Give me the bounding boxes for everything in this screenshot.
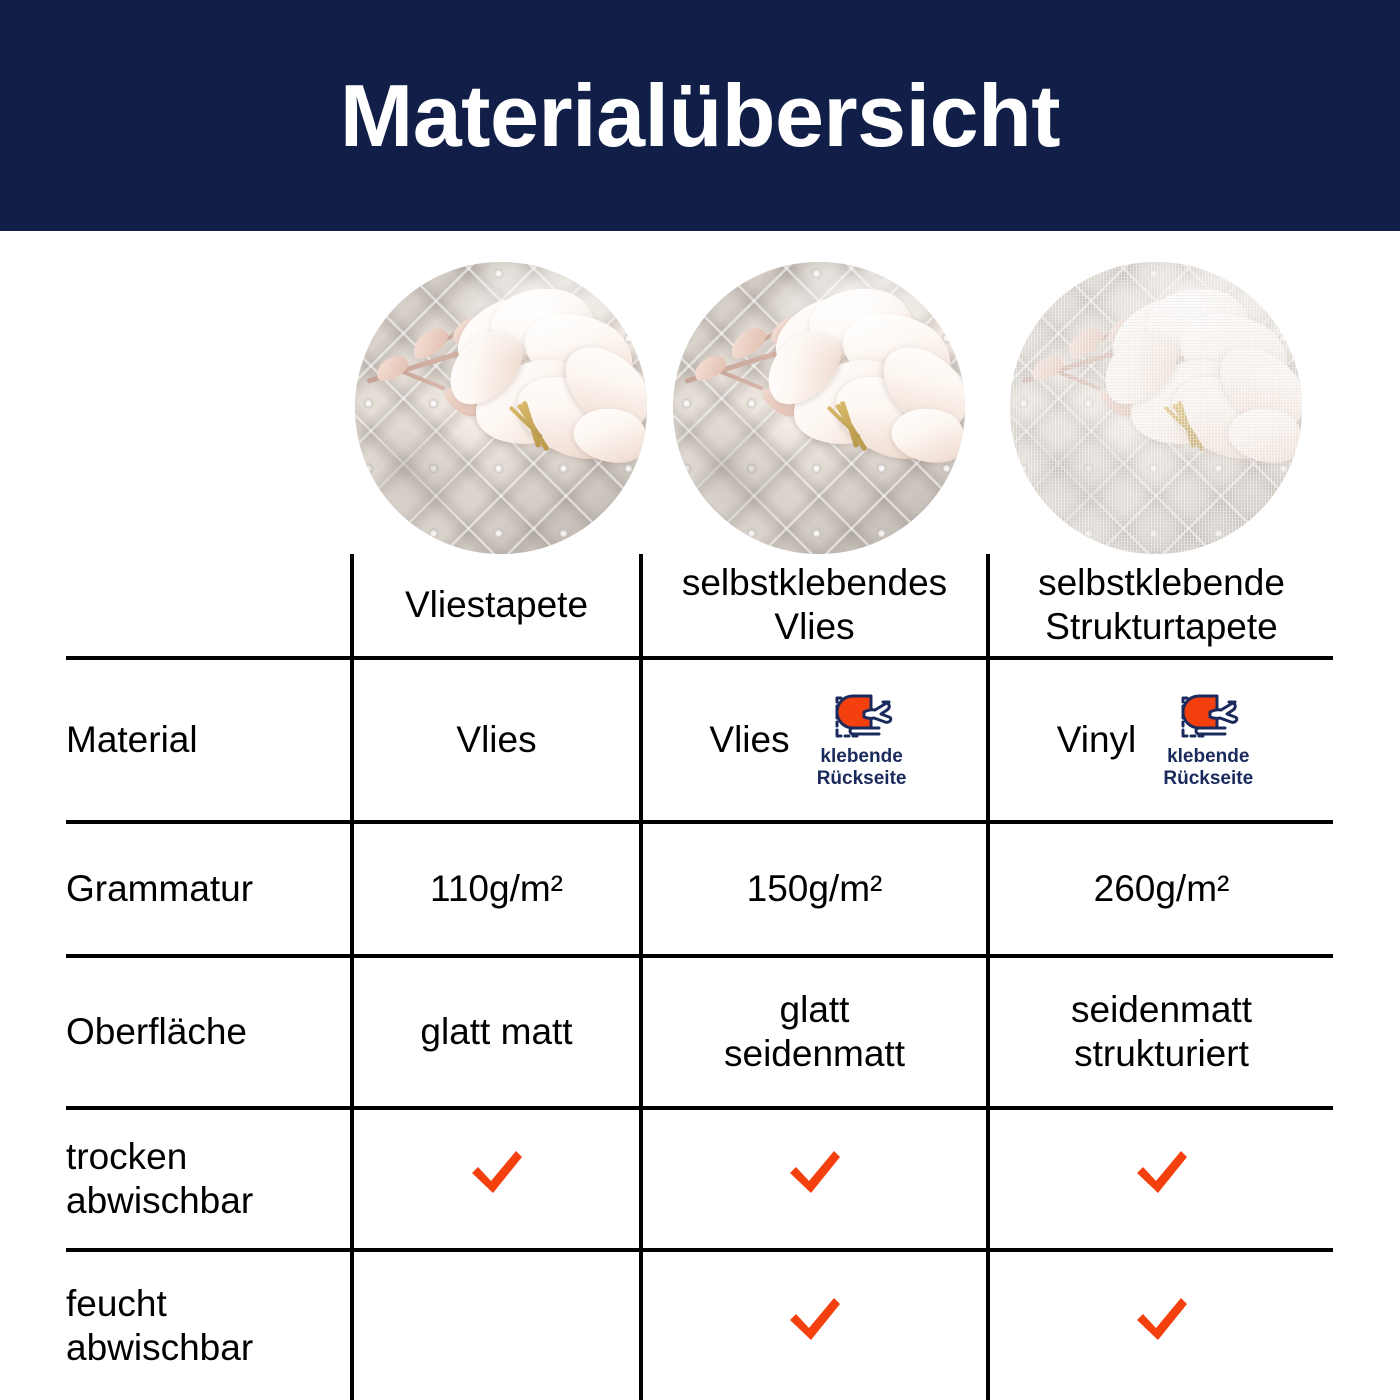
- header-cell-strukturtapete: selbstklebende Strukturtapete: [988, 554, 1333, 658]
- cell-grammatur-selbstklebendes-vlies: 150g/m²: [641, 822, 988, 956]
- adhesive-backing-badge: klebendeRückseite: [1150, 690, 1266, 791]
- header-cell-vliestapete: Vliestapete: [352, 554, 641, 658]
- header-cell-selbstklebendes-vlies: selbstklebendes Vlies: [641, 554, 988, 658]
- cell-material-vliestapete: Vlies: [352, 658, 641, 822]
- row-label-oberflaeche: Oberfläche: [66, 956, 352, 1108]
- table-row-material: Material Vlies Vlies: [66, 658, 1333, 822]
- cell-value: Vinyl: [1057, 718, 1137, 762]
- row-label-feucht-abwischbar: feucht abwischbar: [66, 1250, 352, 1400]
- table-header-row: Vliestapete selbstklebendes Vlies selbst…: [66, 554, 1333, 658]
- cell-value: Vlies: [709, 718, 789, 762]
- cell-feucht-strukturtapete: [988, 1250, 1333, 1400]
- adhesive-backing-badge: klebendeRückseite: [804, 690, 920, 791]
- highlight-sheen: [355, 262, 647, 554]
- check-icon: [1133, 1147, 1191, 1201]
- circular-sample-image: [1010, 262, 1302, 554]
- sample-image-selbstklebendes-vlies: [673, 262, 965, 554]
- page-title: Materialübersicht: [340, 72, 1060, 160]
- header-cell-empty: [66, 554, 352, 658]
- badge-line-2: Rückseite: [1163, 768, 1253, 789]
- sample-image-strukturtapete: [1010, 262, 1302, 554]
- cell-feucht-selbstklebendes-vlies: [641, 1250, 988, 1400]
- cell-oberflaeche-selbstklebendes-vlies: glatt seidenmatt: [641, 956, 988, 1108]
- row-label-trocken-abwischbar: trocken abwischbar: [66, 1108, 352, 1250]
- check-icon: [786, 1294, 844, 1348]
- table-row-oberflaeche: Oberfläche glatt matt glatt seidenmatt s…: [66, 956, 1333, 1108]
- check-icon: [786, 1147, 844, 1201]
- cell-grammatur-vliestapete: 110g/m²: [352, 822, 641, 956]
- material-comparison-table: Vliestapete selbstklebendes Vlies selbst…: [66, 554, 1333, 1400]
- badge-line-1: klebende: [1167, 746, 1249, 767]
- circular-sample-image: [673, 262, 965, 554]
- cell-oberflaeche-strukturtapete: seidenmatt strukturiert: [988, 956, 1333, 1108]
- check-icon: [1133, 1294, 1191, 1348]
- check-icon: [468, 1147, 526, 1201]
- table-row-feucht-abwischbar: feucht abwischbar: [66, 1250, 1333, 1400]
- cell-feucht-vliestapete: [352, 1250, 641, 1400]
- highlight-sheen: [673, 262, 965, 554]
- badge-line-1: klebende: [820, 746, 902, 767]
- sample-image-vliestapete: [355, 262, 647, 554]
- cell-oberflaeche-vliestapete: glatt matt: [352, 956, 641, 1108]
- cell-grammatur-strukturtapete: 260g/m²: [988, 822, 1333, 956]
- adhesive-badge-text: klebendeRückseite: [817, 746, 907, 791]
- adhesive-badge-text: klebendeRückseite: [1163, 746, 1253, 791]
- peel-adhesive-backing-icon: [1177, 690, 1239, 744]
- no-check-placeholder: [496, 1337, 497, 1338]
- circular-sample-image: [355, 262, 647, 554]
- badge-line-2: Rückseite: [817, 768, 907, 789]
- material-overview-page: Materialübersicht: [0, 0, 1400, 1400]
- cell-material-selbstklebendes-vlies: Vlies: [641, 658, 988, 822]
- sample-images-row: [66, 262, 1333, 554]
- row-label-material: Material: [66, 658, 352, 822]
- cell-trocken-strukturtapete: [988, 1108, 1333, 1250]
- header-banner: Materialübersicht: [0, 0, 1400, 231]
- cell-material-strukturtapete: Vinyl klebendeRückseite: [988, 658, 1333, 822]
- structured-surface-overlay: [1010, 262, 1302, 554]
- cell-trocken-vliestapete: [352, 1108, 641, 1250]
- peel-adhesive-backing-icon: [831, 690, 893, 744]
- table-row-trocken-abwischbar: trocken abwischbar: [66, 1108, 1333, 1250]
- cell-trocken-selbstklebendes-vlies: [641, 1108, 988, 1250]
- table-row-grammatur: Grammatur 110g/m² 150g/m² 260g/m²: [66, 822, 1333, 956]
- row-label-grammatur: Grammatur: [66, 822, 352, 956]
